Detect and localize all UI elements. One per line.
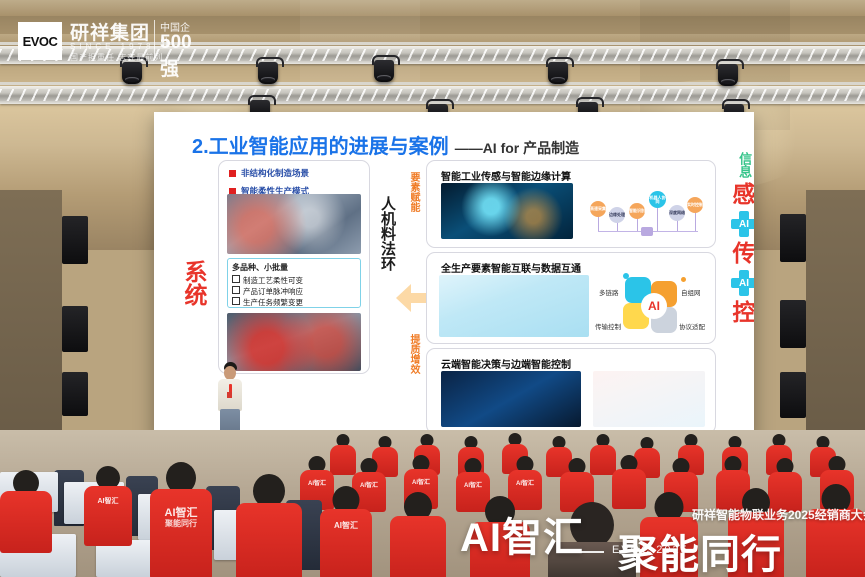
gear-label: 多链路 xyxy=(599,287,619,297)
sublist-item: 生产任务频繁变更 xyxy=(232,297,356,308)
stage-light xyxy=(548,62,568,84)
checkbox-icon xyxy=(232,297,240,305)
label-quality-efficiency: 提质增效 xyxy=(402,334,419,374)
right-card-sensing: 智能工业传感与智能边缘计算 高速采集 边缘处理 智能识别 机器人协同 深度网络 … xyxy=(426,160,716,248)
right-vertical-column: 信息 感 AI 传 AI 控 xyxy=(729,152,754,329)
sublist-item-label: 产品订单脉冲响应 xyxy=(243,287,303,296)
network-plane-image xyxy=(439,275,589,337)
square-bullet-icon xyxy=(229,170,236,177)
stage-light xyxy=(122,62,142,84)
scenario-sublist: 多品种、小批量 制造工艺柔性可变 产品订单脉冲响应 生产任务频繁变更 xyxy=(227,258,361,308)
label-element-empowerment: 要素赋能 xyxy=(402,172,419,212)
node-label: 机器人协同 xyxy=(649,191,666,208)
evoc-logomark-text: EVOC xyxy=(23,34,58,49)
pa-speaker xyxy=(62,216,88,264)
ai-core-label: AI xyxy=(641,293,667,319)
brand-tagline: 国产担重任 志在最前列 xyxy=(70,52,163,63)
factory-photo-bottom xyxy=(227,313,361,371)
slide-title-main: 2.工业智能应用的进展与案例 xyxy=(192,136,449,158)
node-label: 深度网络 xyxy=(669,205,685,221)
checkbox-icon xyxy=(232,286,240,294)
scenario-bullet-label: 非结构化制造场景 xyxy=(241,167,309,179)
sublist-item-label: 生产任务频繁变更 xyxy=(243,298,303,307)
gear-label: 协议适配 xyxy=(679,321,705,331)
node-base xyxy=(641,227,653,236)
label-information: 信息 xyxy=(737,152,751,178)
node-label: 实时控制 xyxy=(687,197,703,213)
stage-light xyxy=(374,60,394,82)
shirt-logo: AI智汇 xyxy=(334,520,358,531)
pa-speaker xyxy=(780,300,806,348)
brand-since: SINCE 1978 xyxy=(70,42,154,51)
pa-speaker xyxy=(780,214,806,262)
dot-cyan xyxy=(623,273,629,279)
sublist-item: 制造工艺柔性可变 xyxy=(232,275,356,286)
attendee-shirt xyxy=(236,503,302,577)
shirt-logo-sub: 聚能同行 xyxy=(165,518,197,529)
node-label: 高速采集 xyxy=(590,201,606,217)
scenario-bullet: 非结构化制造场景 xyxy=(229,167,369,179)
gear-label: 传输控制 xyxy=(595,321,621,331)
cloud-dashboard-image xyxy=(441,371,581,427)
node-label: 边缘处理 xyxy=(609,207,625,223)
gear-label: 自组网 xyxy=(681,287,701,297)
ai-plus-icon: AI xyxy=(731,270,754,296)
left-scenario-card: 非结构化制造场景 智能柔性生产模式 多品种、小批量 制造工艺柔性可变 产品订单脉… xyxy=(218,160,370,374)
brand-company-name: 研祥集团 xyxy=(70,18,150,45)
factory-photo-top xyxy=(227,194,361,254)
slide-content: 2.工业智能应用的进展与案例——AI for 产品制造 系统 非结构化制造场景 … xyxy=(154,112,754,442)
shirt-logo: AI智汇 xyxy=(516,478,534,487)
stage-light xyxy=(258,62,278,84)
left-arrow-shaft xyxy=(410,293,426,303)
presentation-screen: 2.工业智能应用的进展与案例——AI for 产品制造 系统 非结构化制造场景 … xyxy=(154,112,754,442)
sublist-heading: 多品种、小批量 xyxy=(232,262,356,273)
sublist-item: 产品订单脉冲响应 xyxy=(232,286,356,297)
ai-plus-label: AI xyxy=(731,211,754,237)
sensing-node-diagram: 高速采集 边缘处理 智能识别 机器人协同 深度网络 实时控制 xyxy=(587,183,705,241)
attendee-foreground-mid xyxy=(236,474,302,577)
gear-ai-diagram: AI 多链路 自组网 传输控制 协议适配 xyxy=(599,273,707,339)
right-card-cloud-edge: 云端智能决策与边端智能控制 xyxy=(426,348,716,434)
pa-speaker xyxy=(780,372,806,418)
banner-rule xyxy=(562,551,604,553)
banner-event-name: 研祥智能物联业务2025经销商大会 xyxy=(692,506,865,523)
ai-plus-icon: AI xyxy=(731,211,754,237)
presenter-head xyxy=(224,366,236,380)
left-arrow-icon xyxy=(396,284,411,312)
edge-control-diagram xyxy=(593,371,705,427)
label-man-machine-material-method-environment: 人机料法环 xyxy=(376,196,396,271)
evoc-logomark: EVOC xyxy=(18,22,62,60)
label-system: 系统 xyxy=(172,260,206,306)
checkbox-icon xyxy=(232,275,240,283)
right-card-title: 全生产要素智能互联与数据互通 xyxy=(441,260,581,275)
label-control: 控 xyxy=(729,301,754,324)
ai-plus-label: AI xyxy=(731,270,754,296)
node-label: 智能识别 xyxy=(629,203,645,219)
right-card-title: 云端智能决策与边端智能控制 xyxy=(441,356,571,371)
dot-orange xyxy=(681,277,686,282)
edge-computing-image xyxy=(441,183,573,239)
conference-photo: EVOC 研祥集团 SINCE 1978 国产担重任 志在最前列 中国企业 50… xyxy=(0,0,865,577)
sublist-item-label: 制造工艺柔性可变 xyxy=(243,276,303,285)
label-transmit: 传 xyxy=(729,242,754,265)
logo-divider xyxy=(154,20,155,60)
label-sense: 感 xyxy=(729,183,754,206)
venue-brand-logo: EVOC 研祥集团 SINCE 1978 国产担重任 志在最前列 中国企业 50… xyxy=(18,18,198,62)
pa-speaker xyxy=(62,306,88,352)
shirt-logo: AI智汇 xyxy=(464,480,482,489)
banner-headline-1: AI智汇 xyxy=(460,505,584,563)
slide-title: 2.工业智能应用的进展与案例——AI for 产品制造 xyxy=(192,130,579,159)
shirt-logo: AI智汇 xyxy=(98,496,119,506)
right-card-interconnect: 全生产要素智能互联与数据互通 AI 多链路 自组网 传输控制 协议适配 xyxy=(426,252,716,344)
pa-speaker xyxy=(62,372,88,416)
brand-award-line-2: 500强 xyxy=(160,32,198,81)
event-banner-overlay: AI智汇 聚能同行 EVOC 2025 研祥智能物联业务2025经销商大会 xyxy=(440,495,865,577)
slide-title-sub: ——AI for 产品制造 xyxy=(455,140,579,156)
attendee-shirt xyxy=(150,489,212,577)
attendee-foreground-left: AI智汇 聚能同行 xyxy=(150,462,212,577)
banner-brand-year: EVOC 2025 xyxy=(612,544,689,556)
shirt-logo: AI智汇 xyxy=(412,477,430,486)
right-card-title: 智能工业传感与智能边缘计算 xyxy=(441,168,571,183)
stage-light xyxy=(718,64,738,86)
presenter-lanyard xyxy=(227,392,232,398)
